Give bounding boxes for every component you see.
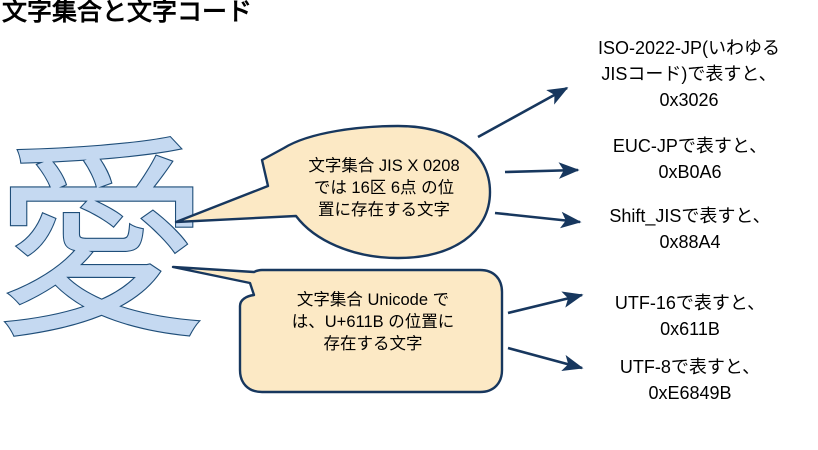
iso-2022-jp-line-1: ISO-2022-JP(いわゆる xyxy=(598,38,780,58)
jis-bubble-line-1: 文字集合 JIS X 0208 xyxy=(308,156,459,175)
unicode-bubble-line-2: は、U+611B の位置に xyxy=(292,312,454,331)
arrow-to-utf-16 xyxy=(508,295,582,313)
shift-jis-value: 0x88A4 xyxy=(659,232,720,252)
utf-16-line-1: UTF-16で表すと、 xyxy=(615,293,765,313)
encoding-label-utf-16: UTF-16で表すと、 0x611B xyxy=(615,293,765,339)
encoding-label-iso-2022-jp: ISO-2022-JP(いわゆる JISコード)で表すと、 0x3026 xyxy=(598,38,780,110)
unicode-bubble[interactable]: 文字集合 Unicode で は、U+611B の位置に 存在する文字 xyxy=(173,267,502,392)
encoding-label-utf-8: UTF-8で表すと、 0xE6849B xyxy=(620,357,760,403)
jis-bubble-line-2: では 16区 6点 の位 xyxy=(314,178,454,197)
shift-jis-line-1: Shift_JISで表すと、 xyxy=(609,206,770,227)
utf-16-value: 0x611B xyxy=(660,319,720,339)
kanji-glyph-ai: 愛 xyxy=(0,118,209,369)
utf-8-line-1: UTF-8で表すと、 xyxy=(620,357,760,377)
arrow-to-euc-jp xyxy=(505,170,578,172)
iso-2022-jp-value: 0x3026 xyxy=(659,90,718,110)
page-title: 文字集合と文字コード xyxy=(2,0,252,26)
unicode-bubble-line-3: 存在する文字 xyxy=(324,334,423,353)
diagram-canvas: 文字集合と文字コード 愛 文字集合 JIS X 0208 では 16区 6点 の… xyxy=(0,0,818,450)
euc-jp-value: 0xB0A6 xyxy=(658,162,721,182)
arrow-to-iso-2022-jp xyxy=(478,88,567,137)
euc-jp-line-1: EUC-JPで表すと、 xyxy=(613,136,767,156)
encoding-label-shift-jis: Shift_JISで表すと、 0x88A4 xyxy=(609,206,770,252)
utf-8-value: 0xE6849B xyxy=(648,383,731,403)
jis-x-0208-bubble[interactable]: 文字集合 JIS X 0208 では 16区 6点 の位 置に存在する文字 xyxy=(176,126,490,258)
arrow-to-shift-jis xyxy=(495,213,580,222)
arrow-to-utf-8 xyxy=(508,348,582,368)
unicode-bubble-line-1: 文字集合 Unicode で xyxy=(297,290,449,309)
jis-bubble-line-3: 置に存在する文字 xyxy=(318,200,450,219)
iso-2022-jp-line-2: JISコード)で表すと、 xyxy=(601,64,776,84)
encoding-label-euc-jp: EUC-JPで表すと、 0xB0A6 xyxy=(613,136,767,182)
character-encoding-diagram: 文字集合と文字コード 愛 文字集合 JIS X 0208 では 16区 6点 の… xyxy=(0,0,818,450)
